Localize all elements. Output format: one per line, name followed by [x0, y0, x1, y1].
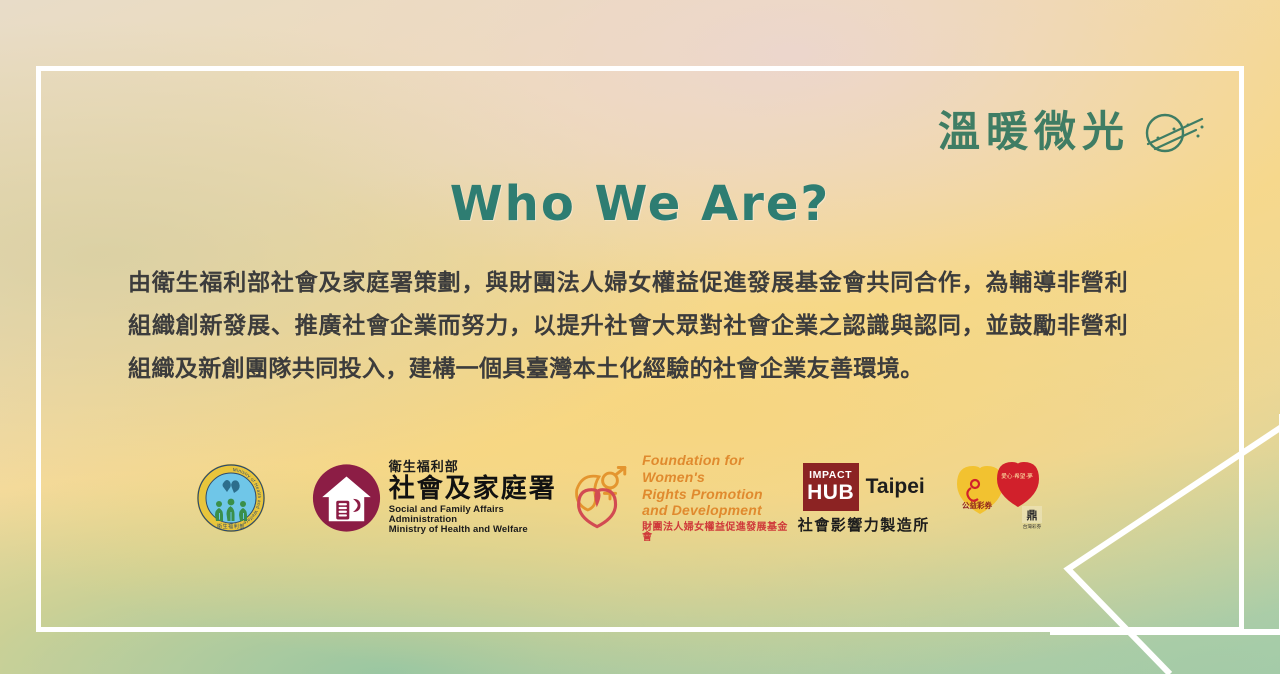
dove-heart-gender-symbol-icon: [562, 459, 634, 537]
svg-text:鼎: 鼎: [1027, 509, 1038, 522]
body-paragraph-text: 由衛生福利部社會及家庭署策劃，與財團法人婦女權益促進發展基金會共同合作，為輔導非…: [128, 262, 1128, 391]
fwrpd-text-block: Foundation for Women's Rights Promotion …: [642, 452, 798, 543]
fwrpd-zh-line: 財團法人婦女權益促進發展基金會: [642, 523, 798, 544]
impact-hub-zh-line: 社會影響力製造所: [798, 518, 930, 534]
impact-hub-wordmark-row: IMPACT HUB Taipei: [803, 463, 925, 511]
impact-hub-city: Taipei: [866, 476, 925, 498]
logo-impact-hub-taipei: IMPACT HUB Taipei 社會影響力製造所: [798, 463, 946, 534]
logo-mohw-seal: Ministry of Health and Welfare 衛生福利部: [195, 462, 312, 534]
brand-lockup: 溫暖微光: [938, 110, 1208, 156]
svg-text:愛心·希望·夢: 愛心·希望·夢: [1001, 472, 1033, 480]
brand-name: 溫暖微光: [938, 112, 1130, 154]
sfaa-line-en-2: Ministry of Health and Welfare: [389, 525, 562, 535]
svg-text:公益彩券: 公益彩券: [962, 500, 992, 510]
impact-hub-badge-line-1: IMPACT: [809, 470, 852, 481]
twin-hearts-lottery-icon: 公益彩券 愛心·希望·夢 鼎 台灣彩券: [946, 462, 1046, 534]
ministry-of-health-and-welfare-seal-icon: Ministry of Health and Welfare 衛生福利部: [195, 462, 267, 534]
svg-text:台灣彩券: 台灣彩券: [1023, 523, 1042, 530]
impact-hub-text-block: IMPACT HUB Taipei 社會影響力製造所: [798, 463, 930, 534]
logo-fwrpd: Foundation for Women's Rights Promotion …: [562, 452, 798, 543]
sfaa-text-block: 衛生福利部 社會及家庭署 Social and Family Affairs A…: [389, 461, 562, 535]
logo-sfaa: 衛生福利部 社會及家庭署 Social and Family Affairs A…: [312, 461, 562, 535]
slide-canvas: 溫暖微光 Who We Are? 由衛生福利部社會及家庭署策劃，與財團法人婦女權…: [0, 0, 1280, 674]
sfaa-line-main: 社會及家庭署: [389, 476, 562, 503]
house-and-hand-icon: [312, 461, 381, 535]
sfaa-line-top: 衛生福利部: [389, 461, 562, 475]
partner-logo-strip: Ministry of Health and Welfare 衛生福利部: [195, 452, 1055, 544]
fwrpd-en-line-3: and Development: [642, 502, 798, 519]
svg-text:衛生福利部: 衛生福利部: [217, 523, 245, 530]
impact-hub-badge-line-2: HUB: [807, 482, 854, 503]
logo-public-welfare-lottery: 公益彩券 愛心·希望·夢 鼎 台灣彩券: [946, 462, 1055, 534]
body-paragraph: 由衛生福利部社會及家庭署策劃，與財團法人婦女權益促進發展基金會共同合作，為輔導非…: [128, 262, 1128, 391]
impact-hub-badge: IMPACT HUB: [803, 463, 859, 511]
fwrpd-en-line-2: Rights Promotion: [642, 486, 798, 503]
fwrpd-en-line-1: Foundation for Women's: [642, 452, 798, 485]
page-title: Who We Are?: [0, 176, 1280, 232]
planet-sparkle-icon: [1140, 110, 1208, 156]
sfaa-line-en-1: Social and Family Affairs Administration: [389, 505, 562, 525]
